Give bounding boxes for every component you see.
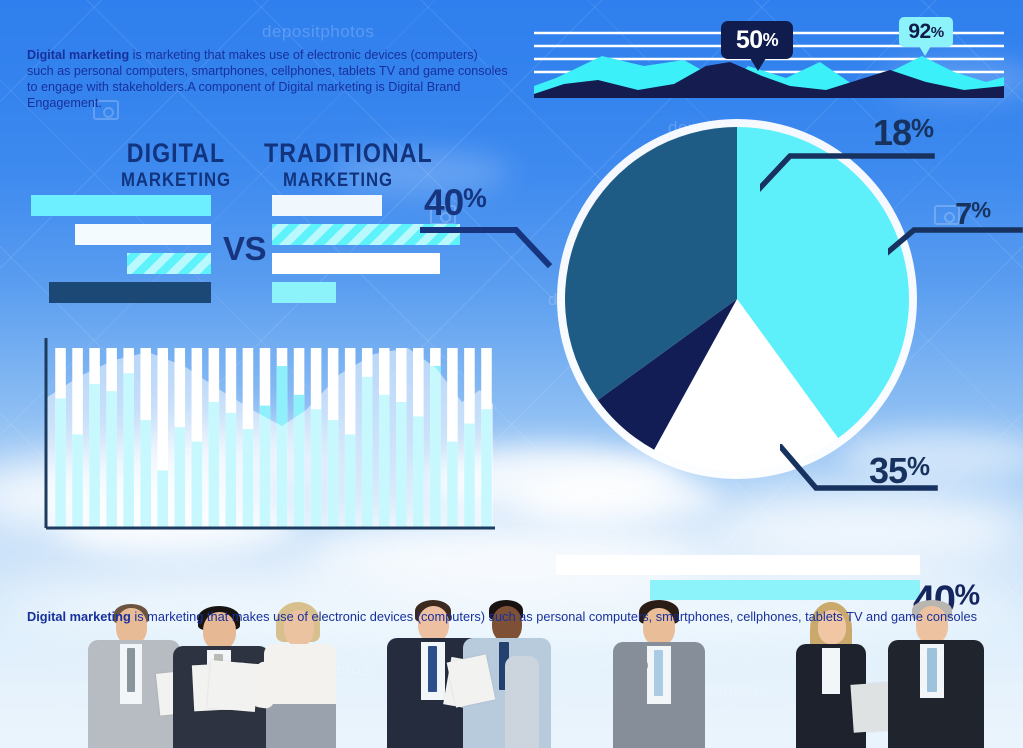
intro-line-2: such as personal computers, smartphones,… <box>27 63 527 79</box>
pie-label-18-value: 18 <box>873 112 911 153</box>
heading-digital-line2: MARKETING <box>107 171 245 191</box>
tie <box>127 648 135 692</box>
intro-line-1-rest: is marketing that makes use of electroni… <box>129 48 478 62</box>
heading-digital-marketing: DIGITAL MARKETING <box>96 140 256 191</box>
bottom-bar-cyan <box>650 580 920 600</box>
column-chart <box>44 338 495 538</box>
intro-paragraph: Digital marketing is marketing that make… <box>27 47 527 111</box>
infographic-canvas: depositphotos depositphotos depositphoto… <box>0 0 1023 748</box>
heading-traditional-marketing: TRADITIONAL MARKETING <box>252 140 424 191</box>
intro-line-1: Digital marketing is marketing that make… <box>27 47 527 63</box>
traditional-bar-4 <box>272 282 336 303</box>
traditional-bar-3 <box>272 253 440 274</box>
pie-callout-40-label: 40% <box>424 182 486 224</box>
pie-callout-40-unit: % <box>463 183 486 213</box>
pie-label-18-unit: % <box>911 115 933 143</box>
torso <box>505 656 539 748</box>
outro-rest: is marketing that makes use of electroni… <box>131 609 977 624</box>
heading-traditional-line2: MARKETING <box>264 171 412 191</box>
digital-bar-4 <box>49 282 211 303</box>
pie-label-7-unit: % <box>971 197 990 222</box>
intro-line-3: to engage with stakeholders.A component … <box>27 79 527 111</box>
tooltip-92-unit: % <box>931 24 944 41</box>
skirt <box>266 704 336 748</box>
tie <box>927 648 937 692</box>
shirt <box>822 648 840 694</box>
area-tooltip-50: 50% <box>721 21 793 59</box>
tie <box>654 650 663 696</box>
digital-bar-1 <box>31 195 211 216</box>
intro-lead: Digital marketing <box>27 48 129 62</box>
tooltip-50-value: 50 <box>736 26 763 55</box>
traditional-bar-1 <box>272 195 382 216</box>
pie-callout-40-value: 40 <box>424 182 463 223</box>
pie-leader-18 <box>760 148 940 198</box>
digital-bar-3 <box>127 253 211 274</box>
outro-lead: Digital marketing <box>27 609 131 624</box>
heading-traditional-line1: TRADITIONAL <box>264 140 412 167</box>
pie-leader-7 <box>888 222 1023 262</box>
tooltip-50-unit: % <box>763 30 779 51</box>
heading-digital-line1: DIGITAL <box>107 140 245 167</box>
outro-paragraph: Digital marketing is marketing that make… <box>27 609 1017 624</box>
area-tooltip-92: 92% <box>899 17 953 47</box>
digital-bar-2 <box>75 224 211 245</box>
bottom-bar-white <box>556 555 920 575</box>
tie <box>428 646 437 692</box>
tooltip-92-value: 92 <box>908 20 930 44</box>
vs-label: VS <box>223 230 266 268</box>
pie-leader-35 <box>780 444 940 500</box>
